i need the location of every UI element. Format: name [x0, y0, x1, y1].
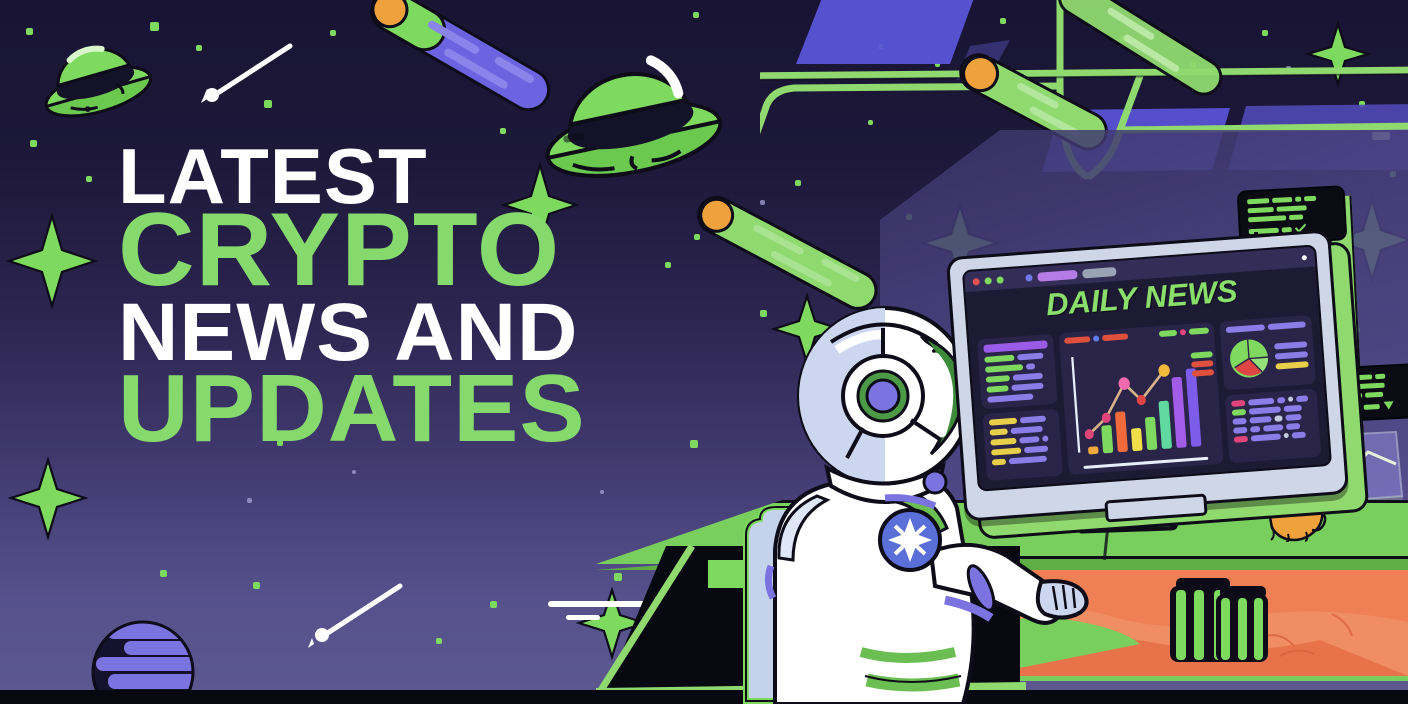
caret-icon	[1382, 400, 1395, 411]
monitor[interactable]: DAILY NEWS	[955, 243, 1340, 508]
bar	[1267, 321, 1306, 330]
aux-bar	[1364, 403, 1380, 409]
bar	[1011, 383, 1043, 391]
legend-chip	[1064, 336, 1090, 344]
legend-chip	[1189, 327, 1209, 334]
chrome-dot-green-1[interactable]	[984, 277, 991, 284]
monitor-screen[interactable]: DAILY NEWS	[962, 244, 1332, 491]
bar	[989, 418, 1017, 426]
bar-row	[989, 415, 1053, 426]
bar-row	[990, 425, 1054, 436]
bar	[1263, 424, 1283, 431]
bar	[1026, 363, 1035, 370]
aux-bar	[1248, 215, 1286, 222]
aux-bar	[1295, 197, 1301, 202]
light-streak-bottom	[548, 595, 688, 630]
chart-x-axis	[1084, 457, 1209, 469]
legend-chip	[1102, 333, 1128, 341]
bar	[1250, 425, 1260, 432]
ufo-small-top-left	[30, 30, 160, 135]
chrome-dot-green-2[interactable]	[996, 276, 1003, 283]
comet-green-upper-right	[930, 40, 1130, 165]
headline-line-2: CRYPTO	[118, 206, 771, 295]
chrome-pill-gray[interactable]	[1082, 267, 1117, 278]
shooting-star-top	[190, 40, 300, 115]
legend-chip	[1159, 330, 1177, 337]
bar	[1292, 431, 1306, 438]
aux-bar	[1358, 374, 1372, 380]
bar	[991, 447, 1021, 455]
allocation-pie	[1227, 336, 1272, 381]
bar	[983, 340, 1047, 353]
status-dot	[1284, 433, 1289, 438]
bar	[1274, 341, 1307, 349]
monitor-bezel: DAILY NEWS	[946, 229, 1349, 521]
center-chart-panel[interactable]	[1059, 322, 1224, 475]
bar	[1234, 435, 1248, 442]
legend-chip	[1191, 360, 1213, 368]
aux-row	[1248, 213, 1336, 223]
console-floor	[0, 690, 1408, 704]
bar	[1275, 351, 1308, 359]
chart-plot-area	[1065, 339, 1218, 460]
bar	[1013, 373, 1043, 381]
bar	[1042, 435, 1048, 441]
bar	[992, 459, 1006, 466]
chrome-dot-blue[interactable]	[1025, 274, 1032, 281]
bar	[990, 438, 1016, 446]
spaceship-window-frames	[760, 0, 1408, 180]
left-panel-bottom[interactable]	[982, 409, 1063, 481]
chart-side-legend	[1190, 351, 1214, 377]
bar	[1009, 456, 1047, 465]
bar	[1284, 404, 1302, 411]
bar	[1020, 416, 1046, 424]
right-list-panel[interactable]	[1225, 388, 1322, 463]
bar	[1226, 324, 1265, 333]
aux-row	[1247, 195, 1335, 205]
pie-panel[interactable]	[1219, 315, 1316, 390]
bar-row	[991, 445, 1055, 456]
bar	[990, 428, 1008, 435]
bar	[1233, 426, 1247, 433]
bar	[986, 375, 1010, 383]
bar	[1249, 416, 1271, 424]
aux-bar	[1289, 214, 1303, 220]
bar-row	[990, 435, 1054, 446]
bar	[1019, 436, 1039, 443]
bar	[1285, 413, 1301, 420]
bar	[1017, 353, 1043, 361]
bar-row	[992, 455, 1056, 466]
status-dot	[1288, 396, 1293, 401]
chrome-indicator[interactable]	[1302, 255, 1307, 260]
bar	[1296, 395, 1308, 402]
aux-bar	[1248, 207, 1274, 213]
bar-row	[986, 382, 1050, 393]
chrome-dot-red[interactable]	[972, 278, 979, 285]
aux-bar	[1247, 198, 1269, 204]
bar	[984, 355, 1014, 363]
left-panel-top[interactable]	[977, 334, 1058, 409]
comet-green-window	[1020, 0, 1250, 115]
pie-legend	[1274, 341, 1309, 369]
bar	[1024, 445, 1048, 453]
bar-row	[984, 352, 1048, 363]
legend-chip	[1190, 351, 1212, 359]
aux-bar	[1304, 196, 1316, 202]
aux-row	[1248, 204, 1336, 214]
aux-bar	[1375, 374, 1385, 380]
bar-row	[986, 372, 1050, 383]
bar	[986, 385, 1008, 393]
shooting-star-bottom-left	[300, 580, 410, 655]
hero-banner: DAILY NEWS	[0, 0, 1408, 704]
chrome-pill-purple[interactable]	[1037, 269, 1078, 281]
bar	[1277, 396, 1285, 403]
dashboard-right-column	[1219, 315, 1321, 463]
bar	[987, 393, 1033, 402]
planet-striped-blue	[88, 617, 198, 704]
dashboard	[977, 315, 1322, 481]
aux-bar	[1272, 197, 1292, 203]
dashboard-left-column	[977, 334, 1063, 481]
bar	[1275, 361, 1308, 369]
bar	[1232, 408, 1246, 415]
bar	[1010, 426, 1042, 434]
bar	[1249, 406, 1281, 414]
bar	[1231, 399, 1245, 406]
pie-row	[1226, 331, 1309, 383]
aux-bar	[1277, 205, 1307, 212]
bar-row	[985, 362, 1049, 373]
bar	[1286, 422, 1300, 429]
legend-chip	[1093, 335, 1099, 341]
headline-line-4: UPDATES	[118, 368, 771, 451]
page-title: LATEST CRYPTO NEWS AND UPDATES	[118, 143, 758, 451]
aux-bar	[1357, 383, 1385, 389]
bar	[985, 364, 1023, 373]
bar	[1274, 415, 1282, 422]
legend-chip	[1180, 329, 1186, 335]
bar	[1248, 397, 1274, 405]
bar	[1232, 417, 1246, 424]
comet-blue-purple	[325, 0, 585, 123]
bar	[1251, 433, 1281, 441]
aux-bar	[1365, 392, 1383, 398]
